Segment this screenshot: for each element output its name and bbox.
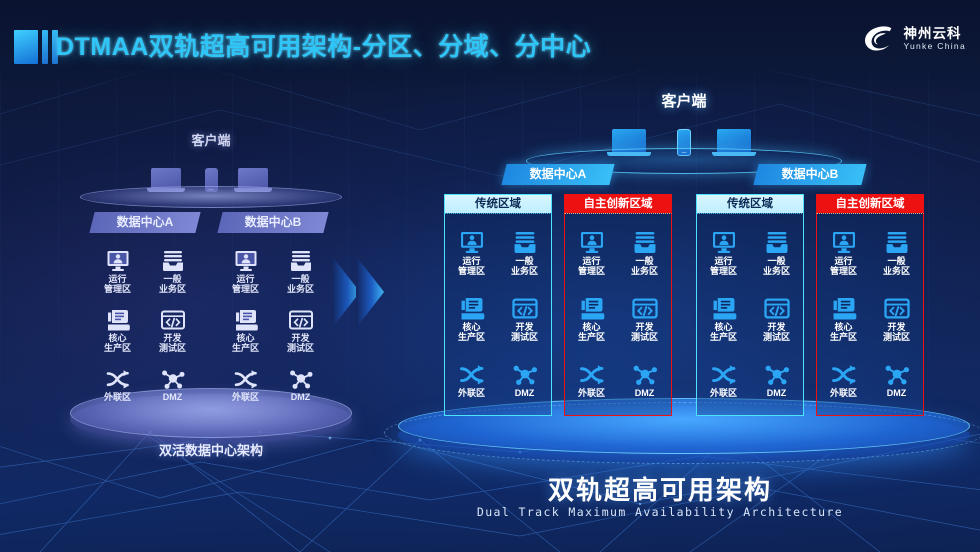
server-core-icon xyxy=(579,297,605,320)
cell-label: 外联区 xyxy=(830,388,857,398)
zone-cell: 外联区 xyxy=(90,368,145,402)
title-bars-icon xyxy=(14,30,58,64)
zone-traditional: 传统区域 运行管理区 一般业务区 核心生产区 xyxy=(696,194,804,416)
zone-cell: DMZ xyxy=(145,368,200,402)
server-core-icon xyxy=(459,297,485,320)
code-window-icon xyxy=(512,297,538,320)
zone-body: 运行管理区 一般业务区 核心生产区 开发测试区 xyxy=(696,213,804,416)
molecule-node-icon xyxy=(884,363,910,386)
zone-cell: 运行管理区 xyxy=(90,250,145,294)
server-core-icon xyxy=(106,309,130,331)
cell-label: 一般业务区 xyxy=(511,256,538,276)
molecule-node-icon xyxy=(632,363,658,386)
cell-label: 核心生产区 xyxy=(578,322,605,342)
cell-label: 开发测试区 xyxy=(287,333,314,353)
zone-cell: DMZ xyxy=(273,368,328,402)
zone-cell: 核心生产区 xyxy=(445,297,498,342)
molecule-node-icon xyxy=(289,368,313,390)
zone-cells: 运行管理区 一般业务区 核心生产区 开发测试区 xyxy=(817,214,923,415)
zone-cell: 开发测试区 xyxy=(273,309,328,353)
user-monitor-icon xyxy=(711,231,737,254)
cell-label: 一般业务区 xyxy=(287,274,314,294)
user-monitor-icon xyxy=(831,231,857,254)
zone-title: 传统区域 xyxy=(696,194,804,213)
zone-title: 自主创新区域 xyxy=(564,194,672,213)
zone-cell: 一般业务区 xyxy=(618,231,671,276)
zone-cell: DMZ xyxy=(498,363,551,398)
cell-label: 开发测试区 xyxy=(763,322,790,342)
cell-label: 开发测试区 xyxy=(883,322,910,342)
cell-label: DMZ xyxy=(163,392,183,402)
molecule-node-icon xyxy=(764,363,790,386)
zone-cell: 核心生产区 xyxy=(565,297,618,342)
server-core-icon xyxy=(234,309,258,331)
cell-label: 运行管理区 xyxy=(710,256,737,276)
zone-cell: 开发测试区 xyxy=(618,297,671,342)
zone-cell: 运行管理区 xyxy=(218,250,273,294)
zone-cell: 运行管理区 xyxy=(817,231,870,276)
slide-header: DTMAA双轨超高可用架构-分区、分域、分中心 神州云科 Yunke China xyxy=(0,0,980,86)
right-panel-dual-track-architecture: 客户端 数据中心A 传统区域 xyxy=(404,90,964,450)
zone-traditional: 传统区域 运行管理区 一般业务区 核心生产区 xyxy=(444,194,552,416)
left-datacenter-b: 数据中心B 运行管理区 一般业务区 核心生产区 xyxy=(218,212,328,412)
left-panel-dual-active-architecture: 客户端 数据中心A xyxy=(78,130,344,450)
user-monitor-icon xyxy=(234,250,258,272)
right-datacenter-a: 数据中心A 传统区域 运行管理区 一般业务区 xyxy=(444,164,672,424)
zone-cell: 开发测试区 xyxy=(750,297,803,342)
zone-cell: 一般业务区 xyxy=(870,231,923,276)
zone-cell: 开发测试区 xyxy=(498,297,551,342)
code-window-icon xyxy=(764,297,790,320)
page-title: DTMAA双轨超高可用架构-分区、分域、分中心 xyxy=(56,27,591,63)
cell-label: DMZ xyxy=(887,388,907,398)
crossing-arrows-icon xyxy=(234,368,258,390)
zone-cells: 运行管理区 一般业务区 核心生产区 开发测试区 xyxy=(565,214,671,415)
zone-title: 自主创新区域 xyxy=(816,194,924,213)
cell-label: 运行管理区 xyxy=(830,256,857,276)
brand-name-cn: 神州云科 xyxy=(903,27,966,42)
zone-cell: 开发测试区 xyxy=(870,297,923,342)
cell-label: DMZ xyxy=(767,388,787,398)
dc-badge: 数据中心A xyxy=(89,212,200,233)
zone-cell: 核心生产区 xyxy=(697,297,750,342)
right-client-label: 客户端 xyxy=(404,90,964,111)
zone-cell: DMZ xyxy=(870,363,923,398)
zone-cell: 外联区 xyxy=(218,368,273,402)
cell-label: 外联区 xyxy=(710,388,737,398)
zone-cell: DMZ xyxy=(618,363,671,398)
cell-label: 核心生产区 xyxy=(104,333,131,353)
stacked-tray-icon xyxy=(884,231,910,254)
cell-label: 核心生产区 xyxy=(830,322,857,342)
cell-label: 一般业务区 xyxy=(159,274,186,294)
dc-badge: 数据中心B xyxy=(753,164,866,185)
cell-label: 外联区 xyxy=(458,388,485,398)
zone-cell: 运行管理区 xyxy=(565,231,618,276)
right-datacenter-b: 数据中心B 传统区域 运行管理区 一般业务区 xyxy=(696,164,924,424)
left-datacenter-a: 数据中心A 运行管理区 一般业务区 核心生产区 xyxy=(90,212,200,412)
cell-label: 核心生产区 xyxy=(232,333,259,353)
footer-title-en: Dual Track Maximum Availability Architec… xyxy=(420,505,900,519)
cell-label: 开发测试区 xyxy=(511,322,538,342)
zone-cell: 外联区 xyxy=(565,363,618,398)
zone-cells: 运行管理区 一般业务区 核心生产区 开发测试区 xyxy=(445,214,551,415)
server-core-icon xyxy=(711,297,737,320)
left-client-label: 客户端 xyxy=(78,130,344,149)
double-chevron-right-icon xyxy=(330,252,394,332)
galaxy-swirl-icon xyxy=(862,24,896,54)
cell-label: 核心生产区 xyxy=(458,322,485,342)
crossing-arrows-icon xyxy=(711,363,737,386)
zone-cell: 外联区 xyxy=(445,363,498,398)
dc-badge: 数据中心B xyxy=(217,212,328,233)
zone-cell: 核心生产区 xyxy=(817,297,870,342)
stacked-tray-icon xyxy=(764,231,790,254)
cell-label: 运行管理区 xyxy=(232,274,259,294)
left-client-platform xyxy=(80,186,342,208)
zone-cell: DMZ xyxy=(750,363,803,398)
cell-label: 外联区 xyxy=(578,388,605,398)
user-monitor-icon xyxy=(459,231,485,254)
code-window-icon xyxy=(161,309,185,331)
cell-label: 运行管理区 xyxy=(578,256,605,276)
zone-cell: 一般业务区 xyxy=(498,231,551,276)
user-monitor-icon xyxy=(579,231,605,254)
zone-cell: 核心生产区 xyxy=(90,309,145,353)
zone-cell: 开发测试区 xyxy=(145,309,200,353)
crossing-arrows-icon xyxy=(831,363,857,386)
zone-cell: 运行管理区 xyxy=(445,231,498,276)
user-monitor-icon xyxy=(106,250,130,272)
cell-label: 一般业务区 xyxy=(631,256,658,276)
crossing-arrows-icon xyxy=(459,363,485,386)
crossing-arrows-icon xyxy=(579,363,605,386)
code-window-icon xyxy=(884,297,910,320)
footer-title-cn: 双轨超高可用架构 xyxy=(420,470,900,507)
zone-cells: 运行管理区 一般业务区 核心生产区 开发测试区 xyxy=(697,214,803,415)
zone-cells: 运行管理区 一般业务区 核心生产区 开发测试区 xyxy=(218,242,328,410)
cell-label: 运行管理区 xyxy=(104,274,131,294)
cell-label: 运行管理区 xyxy=(458,256,485,276)
zone-cell: 核心生产区 xyxy=(218,309,273,353)
cell-label: DMZ xyxy=(515,388,535,398)
crossing-arrows-icon xyxy=(106,368,130,390)
cell-label: 开发测试区 xyxy=(159,333,186,353)
code-window-icon xyxy=(289,309,313,331)
zone-cells: 运行管理区 一般业务区 核心生产区 开发测试区 xyxy=(90,242,200,410)
cell-label: 一般业务区 xyxy=(883,256,910,276)
cell-label: 外联区 xyxy=(232,392,259,402)
cell-label: 外联区 xyxy=(104,392,131,402)
brand-name-en: Yunke China xyxy=(903,42,966,51)
zone-cell: 外联区 xyxy=(817,363,870,398)
brand-logo: 神州云科 Yunke China xyxy=(862,24,966,54)
cell-label: 一般业务区 xyxy=(763,256,790,276)
zone-title: 传统区域 xyxy=(444,194,552,213)
molecule-node-icon xyxy=(512,363,538,386)
cell-label: 核心生产区 xyxy=(710,322,737,342)
molecule-node-icon xyxy=(161,368,185,390)
zone-body: 运行管理区 一般业务区 核心生产区 开发测试区 xyxy=(564,213,672,416)
zone-body: 运行管理区 一般业务区 核心生产区 开发测试区 xyxy=(444,213,552,416)
zone-cell: 一般业务区 xyxy=(145,250,200,294)
stacked-tray-icon xyxy=(632,231,658,254)
stacked-tray-icon xyxy=(161,250,185,272)
zone-cell: 外联区 xyxy=(697,363,750,398)
zone-innovation: 自主创新区域 运行管理区 一般业务区 核心生产区 xyxy=(816,194,924,416)
zone-cell: 运行管理区 xyxy=(697,231,750,276)
left-panel-caption: 双活数据中心架构 xyxy=(78,440,344,459)
server-core-icon xyxy=(831,297,857,320)
stacked-tray-icon xyxy=(512,231,538,254)
cell-label: DMZ xyxy=(635,388,655,398)
cell-label: 开发测试区 xyxy=(631,322,658,342)
code-window-icon xyxy=(632,297,658,320)
cell-label: DMZ xyxy=(291,392,311,402)
zone-body: 运行管理区 一般业务区 核心生产区 开发测试区 xyxy=(816,213,924,416)
dc-badge: 数据中心A xyxy=(501,164,614,185)
zone-cell: 一般业务区 xyxy=(273,250,328,294)
zone-innovation: 自主创新区域 运行管理区 一般业务区 核心生产区 xyxy=(564,194,672,416)
zone-cell: 一般业务区 xyxy=(750,231,803,276)
slide-canvas: DTMAA双轨超高可用架构-分区、分域、分中心 神州云科 Yunke China… xyxy=(0,0,980,552)
stacked-tray-icon xyxy=(289,250,313,272)
